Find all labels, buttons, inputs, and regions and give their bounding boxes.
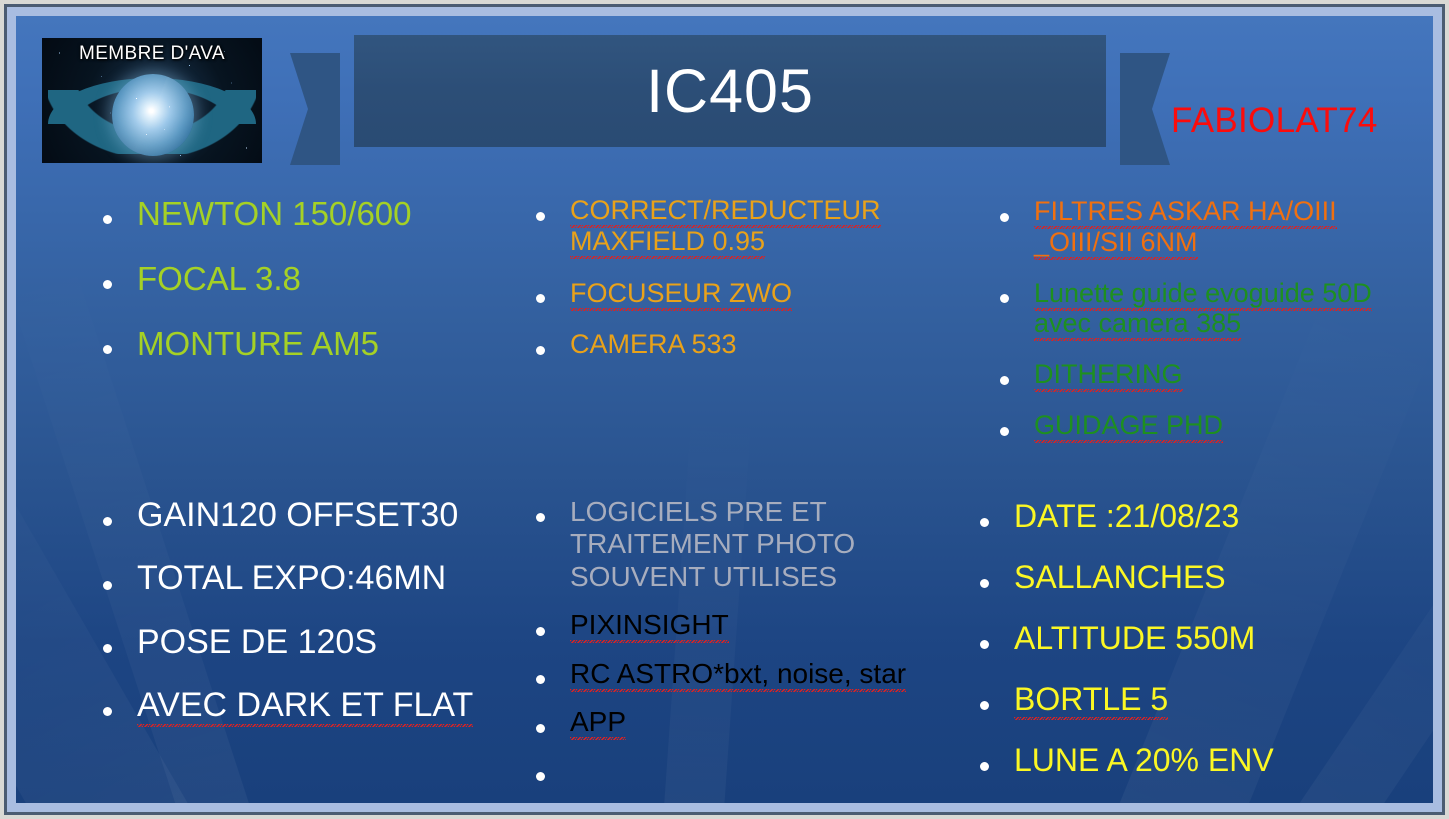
list-item-label: RC ASTRO*bxt, noise, star: [570, 658, 906, 692]
list-item[interactable]: Lunette guide evoguide 50D avec camera 3…: [988, 278, 1428, 340]
list-item-label: LUNE A 20% ENV: [1014, 742, 1274, 778]
bullet-list-optics-camera: CORRECT/REDUCTEUR MAXFIELD 0.95FOCUSEUR …: [524, 195, 954, 360]
list-item-label: MONTURE AM5: [137, 325, 379, 362]
list-item[interactable]: MONTURE AM5: [91, 325, 521, 364]
author-name: FABIOLAT74: [1171, 101, 1378, 141]
list-item[interactable]: [524, 755, 964, 787]
list-item-label: SALLANCHES: [1014, 559, 1226, 595]
slide-title: IC405: [646, 56, 814, 126]
column-telescope-mount: NEWTON 150/600FOCAL 3.8MONTURE AM5: [91, 195, 521, 390]
list-item-label: AVEC DARK ET FLAT: [137, 686, 473, 727]
list-item-label: APP: [570, 706, 626, 740]
logo-caption: MEMBRE D'AVA: [42, 43, 262, 65]
column-filters-guiding: FILTRES ASKAR HA/OIII _OIII/SII 6NMLunet…: [988, 196, 1428, 461]
list-item-label: Lunette guide evoguide 50D avec camera 3…: [1034, 278, 1372, 342]
list-item[interactable]: DITHERING: [988, 359, 1428, 390]
list-item-label: DATE :21/08/23: [1014, 498, 1239, 534]
bullet-list-filters-guiding: FILTRES ASKAR HA/OIII _OIII/SII 6NMLunet…: [988, 196, 1428, 441]
list-item-label: POSE DE 120S: [137, 623, 377, 661]
list-item[interactable]: CORRECT/REDUCTEUR MAXFIELD 0.95: [524, 195, 954, 257]
list-item-label: FOCUSEUR ZWO: [570, 278, 792, 311]
ribbon-tail-left-icon: [290, 53, 340, 165]
list-item[interactable]: RC ASTRO*bxt, noise, star: [524, 658, 964, 690]
list-item[interactable]: TOTAL EXPO:46MN: [91, 559, 531, 598]
list-item-label: GUIDAGE PHD: [1034, 410, 1223, 443]
title-ribbon: IC405: [290, 35, 1170, 165]
list-item-label: DITHERING: [1034, 359, 1183, 392]
galaxy-iris-icon: [112, 74, 194, 156]
galaxy-arms-icon: [112, 74, 194, 156]
bullet-list-acquisition-settings: GAIN120 OFFSET30TOTAL EXPO:46MNPOSE DE 1…: [91, 496, 531, 726]
column-software: LOGICIELS PRE ET TRAITEMENT PHOTO SOUVEN…: [524, 496, 964, 803]
list-item-label: FILTRES ASKAR HA/OIII _OIII/SII 6NM: [1034, 196, 1337, 260]
list-item[interactable]: POSE DE 120S: [91, 623, 531, 662]
list-item[interactable]: NEWTON 150/600: [91, 195, 521, 234]
list-item[interactable]: ALTITUDE 550M: [968, 620, 1418, 657]
list-item[interactable]: FOCAL 3.8: [91, 260, 521, 299]
list-item-label: BORTLE 5: [1014, 681, 1168, 720]
list-item[interactable]: FILTRES ASKAR HA/OIII _OIII/SII 6NM: [988, 196, 1428, 258]
list-item-label: CAMERA 533: [570, 329, 737, 359]
list-item[interactable]: SALLANCHES: [968, 559, 1418, 596]
slide-frame-outer: MEMBRE D'AVA IC405 FABIOLAT74 NEWTON 150…: [0, 0, 1449, 819]
list-item[interactable]: FOCUSEUR ZWO: [524, 278, 954, 309]
list-item[interactable]: GAIN120 OFFSET30: [91, 496, 531, 535]
list-item[interactable]: PIXINSIGHT: [524, 609, 964, 641]
list-item-label: PIXINSIGHT: [570, 609, 729, 643]
list-item[interactable]: CAMERA 533: [524, 329, 954, 360]
list-item[interactable]: LOGICIELS PRE ET TRAITEMENT PHOTO SOUVEN…: [524, 496, 964, 593]
list-item-label: ALTITUDE 550M: [1014, 620, 1255, 656]
list-item[interactable]: DATE :21/08/23: [968, 498, 1418, 535]
list-item-label: NEWTON 150/600: [137, 195, 412, 232]
bullet-list-telescope-mount: NEWTON 150/600FOCAL 3.8MONTURE AM5: [91, 195, 521, 364]
list-item-label: TOTAL EXPO:46MN: [137, 559, 446, 597]
list-item-label: LOGICIELS PRE ET TRAITEMENT PHOTO SOUVEN…: [570, 496, 855, 592]
title-ribbon-body: IC405: [354, 35, 1106, 147]
ribbon-tail-right-icon: [1120, 53, 1170, 165]
bullet-list-software: LOGICIELS PRE ET TRAITEMENT PHOTO SOUVEN…: [524, 496, 964, 787]
list-item[interactable]: AVEC DARK ET FLAT: [91, 686, 531, 725]
column-session-conditions: DATE :21/08/23SALLANCHESALTITUDE 550MBOR…: [968, 498, 1418, 803]
column-optics-camera: CORRECT/REDUCTEUR MAXFIELD 0.95FOCUSEUR …: [524, 195, 954, 381]
list-item[interactable]: APP: [524, 706, 964, 738]
column-acquisition-settings: GAIN120 OFFSET30TOTAL EXPO:46MNPOSE DE 1…: [91, 496, 531, 750]
bullet-list-session-conditions: DATE :21/08/23SALLANCHESALTITUDE 550MBOR…: [968, 498, 1418, 780]
ava-club-logo: MEMBRE D'AVA: [42, 38, 262, 163]
list-item-label: CORRECT/REDUCTEUR MAXFIELD 0.95: [570, 195, 881, 259]
presentation-slide: MEMBRE D'AVA IC405 FABIOLAT74 NEWTON 150…: [16, 16, 1433, 803]
list-item[interactable]: BORTLE 5: [968, 681, 1418, 718]
list-item-label: GAIN120 OFFSET30: [137, 496, 458, 534]
list-item[interactable]: LUNE A 20% ENV: [968, 742, 1418, 779]
list-item-label: FOCAL 3.8: [137, 260, 301, 297]
list-item[interactable]: GUIDAGE PHD: [988, 410, 1428, 441]
